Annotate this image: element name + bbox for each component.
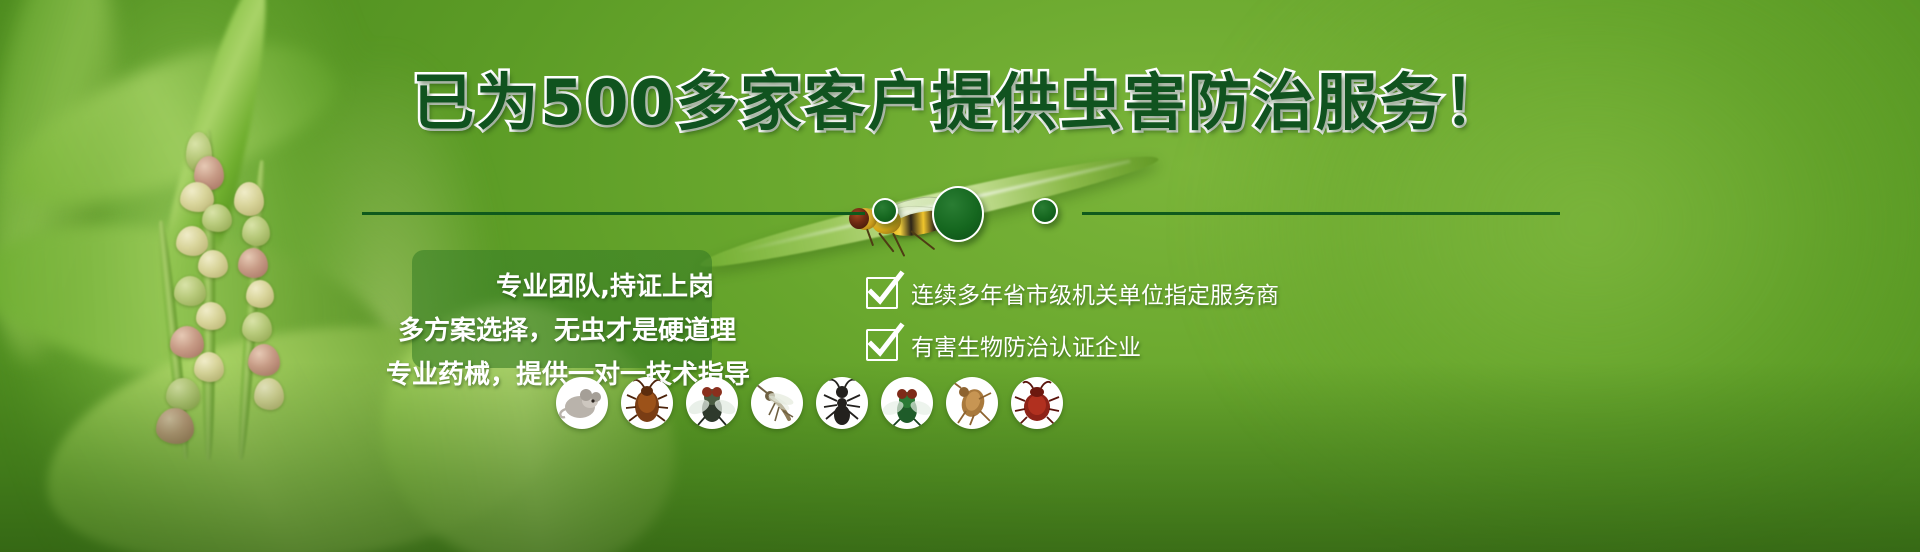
list-item: 连续多年省市级机关单位指定服务商 [866,276,1279,310]
credential-list: 连续多年省市级机关单位指定服务商 有害生物防治认证企业 [866,276,1279,362]
mouse-icon [556,377,608,429]
housefly-icon [686,377,738,429]
feature-line-1: 专业团队,持证上岗 [496,266,750,303]
flea-icon [946,377,998,429]
divider-dot-large [932,186,984,242]
blowfly-icon [881,377,933,429]
divider-left [362,212,865,215]
mosquito-icon [751,377,803,429]
list-item: 有害生物防治认证企业 [866,328,1279,362]
feature-panel-text: 专业团队,持证上岗 多方案选择，无虫才是硬道理 专业药械，提供一对一技术指导 [330,252,750,391]
divider-right [1082,212,1560,215]
promo-banner: 已为500多家客户提供虫害防治服务！ 专业团队,持证上岗 多方案选择，无虫才是硬… [0,0,1920,552]
bedbug-icon [1011,377,1063,429]
pest-icon-strip [556,377,1063,429]
checkbox-checked-icon [866,329,898,361]
checkbox-checked-icon [866,277,898,309]
divider-dot-small-right [1032,198,1058,224]
page-title-text: 已为500多家客户提供虫害防治服务！ [412,66,1507,139]
page-title: 已为500多家客户提供虫害防治服务！ [0,72,1920,134]
cockroach-icon [621,377,673,429]
credential-label: 连续多年省市级机关单位指定服务商 [911,276,1279,310]
feature-line-2: 多方案选择，无虫才是硬道理 [398,310,750,347]
ant-icon [816,377,868,429]
credential-label: 有害生物防治认证企业 [911,328,1141,362]
divider-dot-small-left [872,198,898,224]
